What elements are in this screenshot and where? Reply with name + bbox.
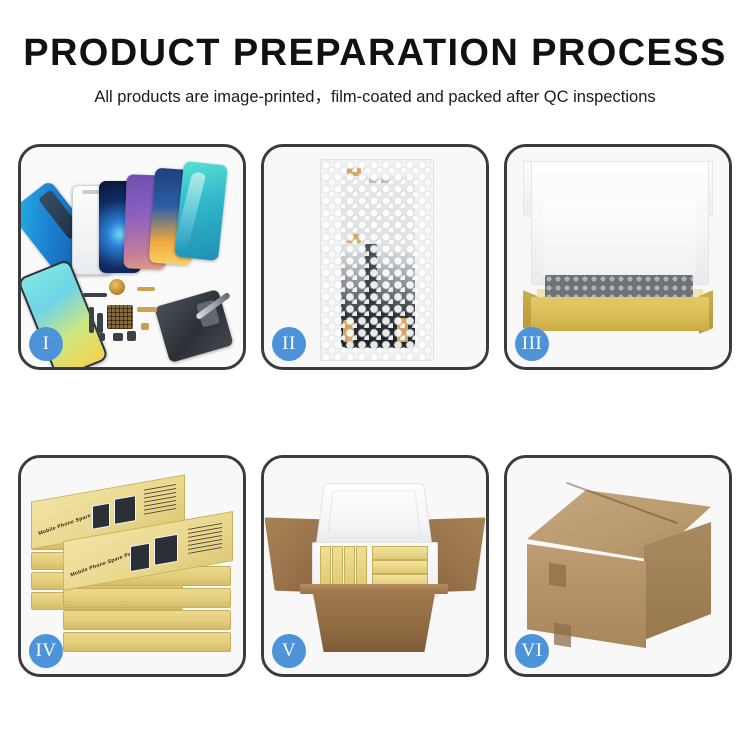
- small-part-bar: [83, 293, 107, 297]
- step-badge-5: V: [272, 634, 306, 668]
- packed-box-flat: [372, 546, 428, 560]
- page-header: PRODUCT PREPARATION PROCESS All products…: [0, 0, 750, 107]
- step-panel-6[interactable]: VI: [504, 455, 732, 677]
- box-lid-screen-image: [114, 495, 136, 525]
- page-title: PRODUCT PREPARATION PROCESS: [0, 34, 750, 74]
- box-stack: Mobile Phone Spare Parts Mobile Phone Sp…: [27, 470, 239, 668]
- process-steps-grid: I II III: [18, 144, 732, 677]
- page-subtitle: All products are image-printed，film-coat…: [0, 83, 750, 107]
- step-panel-5[interactable]: V: [261, 455, 489, 677]
- carton-tape-lower: [554, 623, 571, 648]
- speaker-coil-part: [109, 279, 125, 295]
- carton-left-face: [527, 544, 646, 648]
- vibrator-part: [127, 331, 136, 341]
- connector-part: [97, 313, 103, 333]
- step-badge-2: II: [272, 327, 306, 361]
- carton-tape-upper: [549, 563, 566, 588]
- phone-teal: [174, 161, 228, 261]
- box-lid-screen-image: [130, 543, 150, 573]
- foam-lid: [315, 483, 432, 547]
- box-front-yellow: [531, 297, 709, 331]
- box-lid-screen-image: [154, 534, 178, 566]
- packed-box-flat: [372, 560, 428, 574]
- flex-cable-part: [137, 307, 157, 312]
- chip-array-part: [107, 305, 133, 329]
- box-lid-label: Mobile Phone Spare Parts: [70, 549, 139, 579]
- camera-module-part: [113, 333, 123, 341]
- stacked-box: [63, 588, 231, 608]
- stacked-box: [63, 632, 231, 652]
- bubble-wrap-bag: [320, 159, 434, 361]
- screw-part: [211, 337, 223, 342]
- step-badge-1: I: [29, 327, 63, 361]
- box-lid-text-lines: [188, 520, 222, 554]
- step-badge-3: III: [515, 327, 549, 361]
- gold-contact-part: [141, 323, 149, 330]
- step-badge-6: VI: [515, 634, 549, 668]
- step-panel-4[interactable]: Mobile Phone Spare Parts Mobile Phone Sp…: [18, 455, 246, 677]
- box-lid-screen-image: [92, 503, 110, 530]
- carton-front-panel: [304, 590, 444, 652]
- bubble-texture: [321, 160, 433, 360]
- box-lid-text-lines: [144, 483, 176, 515]
- connector-part: [89, 307, 94, 333]
- step-badge-4: IV: [29, 634, 63, 668]
- step-panel-1[interactable]: I: [18, 144, 246, 370]
- step-panel-3[interactable]: III: [504, 144, 732, 370]
- flex-cable-part: [137, 287, 155, 291]
- foam-insert: [543, 199, 695, 277]
- step-panel-2[interactable]: II: [261, 144, 489, 370]
- stacked-box: [63, 610, 231, 630]
- button-part: [99, 333, 105, 341]
